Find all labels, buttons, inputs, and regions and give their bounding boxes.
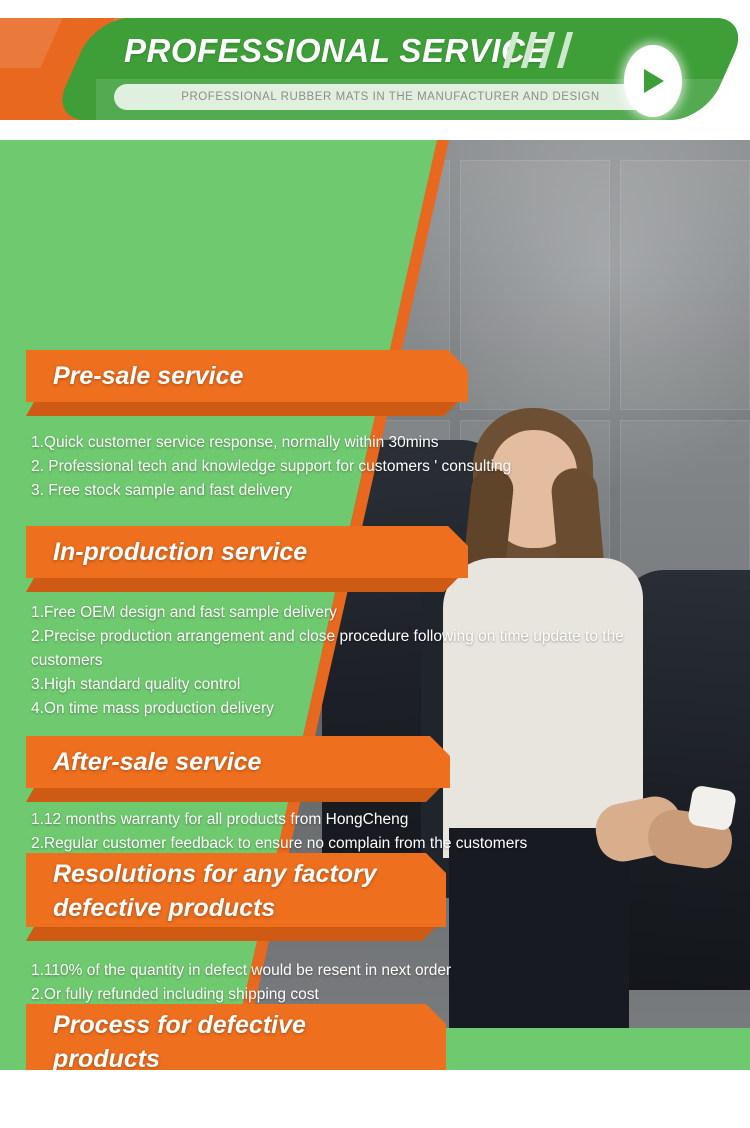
promo-banner-page: PROFESSIONAL SERVICE PROFESSIONAL RUBBER… bbox=[0, 0, 750, 1128]
section-title-shadow bbox=[26, 788, 440, 802]
bottom-white-margin bbox=[0, 1070, 750, 1128]
play-triangle-icon bbox=[644, 69, 666, 93]
section-body-text: 1.110% of the quantity in defect would b… bbox=[31, 959, 651, 1007]
section-title-bar: In-production service bbox=[26, 526, 468, 578]
section-title-bar: Process for defective products resolutio… bbox=[26, 1004, 446, 1070]
section-title-text: Process for defective products resolutio… bbox=[53, 1004, 416, 1070]
section-title-text: After-sale service bbox=[53, 736, 420, 788]
section-title-text: Resolutions for any factory defective pr… bbox=[53, 853, 416, 927]
section-body-text: 1.Quick customer service response, norma… bbox=[31, 431, 651, 503]
header-slash-decoration bbox=[504, 28, 594, 74]
play-button[interactable] bbox=[624, 45, 682, 117]
section-title-bar: After-sale service bbox=[26, 736, 450, 788]
section-title-bar: Resolutions for any factory defective pr… bbox=[26, 853, 446, 927]
photo-shirt-cuff bbox=[687, 784, 737, 831]
section-title-text: In-production service bbox=[53, 526, 438, 578]
section-title-shadow bbox=[26, 578, 458, 592]
section-title-shadow bbox=[26, 927, 436, 941]
section-body-text: 1.12 months warranty for all products fr… bbox=[31, 808, 661, 856]
section-title-shadow bbox=[26, 402, 458, 416]
section-title-text: Pre-sale service bbox=[53, 350, 438, 402]
section-title-bar: Pre-sale service bbox=[26, 350, 468, 402]
content-area: Pre-sale service 1.Quick customer servic… bbox=[0, 140, 750, 1070]
page-header: PROFESSIONAL SERVICE PROFESSIONAL RUBBER… bbox=[0, 18, 750, 120]
header-subtitle-pill: PROFESSIONAL RUBBER MATS IN THE MANUFACT… bbox=[114, 84, 667, 110]
section-body-text: 1.Free OEM design and fast sample delive… bbox=[31, 601, 631, 721]
